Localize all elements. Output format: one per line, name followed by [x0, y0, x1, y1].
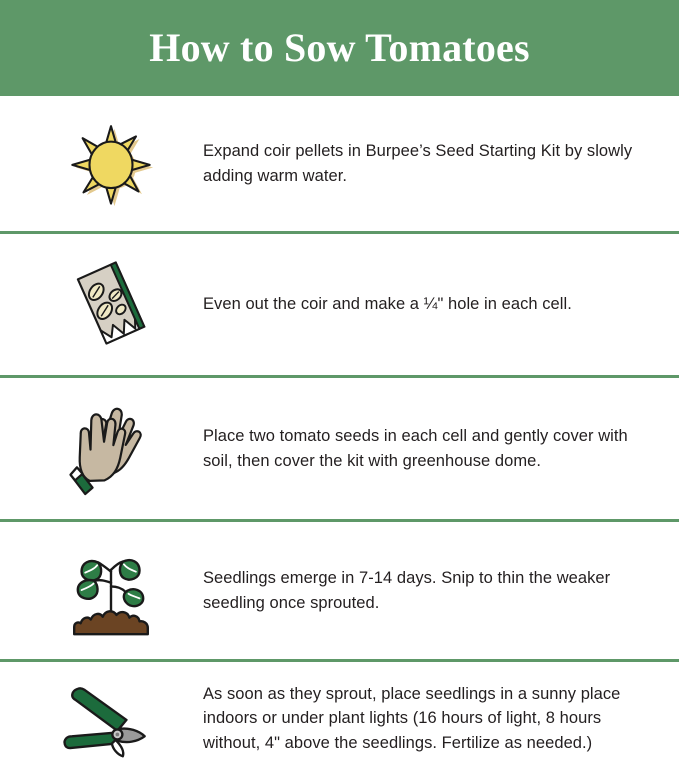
step-icon-cell: [18, 676, 203, 762]
step-text-cell: Even out the coir and make a ¼" hole in …: [203, 292, 661, 316]
step-row: Even out the coir and make a ¼" hole in …: [0, 234, 679, 375]
step-icon-cell: [18, 399, 203, 499]
step-icon-cell: [18, 542, 203, 640]
step-description: Place two tomato seeds in each cell and …: [203, 424, 647, 473]
step-description: As soon as they sprout, place seedlings …: [203, 682, 647, 755]
step-row: Place two tomato seeds in each cell and …: [0, 378, 679, 519]
steps-list: Expand coir pellets in Burpee’s Seed Sta…: [0, 96, 679, 775]
step-description: Even out the coir and make a ¼" hole in …: [203, 292, 647, 316]
step-description: Seedlings emerge in 7-14 days. Snip to t…: [203, 566, 647, 615]
step-row: Expand coir pellets in Burpee’s Seed Sta…: [0, 96, 679, 231]
gardening-gloves-icon: [65, 399, 157, 499]
step-row: Seedlings emerge in 7-14 days. Snip to t…: [0, 522, 679, 659]
step-icon-cell: [18, 120, 203, 208]
seedling-icon: [65, 542, 157, 640]
step-text-cell: Seedlings emerge in 7-14 days. Snip to t…: [203, 566, 661, 615]
pruning-shears-icon: [61, 676, 161, 762]
step-row: As soon as they sprout, place seedlings …: [0, 662, 679, 775]
seed-packet-icon: [66, 257, 156, 353]
step-text-cell: As soon as they sprout, place seedlings …: [203, 682, 661, 755]
step-icon-cell: [18, 257, 203, 353]
step-description: Expand coir pellets in Burpee’s Seed Sta…: [203, 139, 647, 188]
infographic-page: How to Sow Tomatoes: [0, 0, 679, 773]
step-text-cell: Place two tomato seeds in each cell and …: [203, 424, 661, 473]
page-header: How to Sow Tomatoes: [0, 0, 679, 96]
sun-icon: [68, 120, 154, 208]
step-text-cell: Expand coir pellets in Burpee’s Seed Sta…: [203, 139, 661, 188]
page-title: How to Sow Tomatoes: [149, 28, 530, 68]
